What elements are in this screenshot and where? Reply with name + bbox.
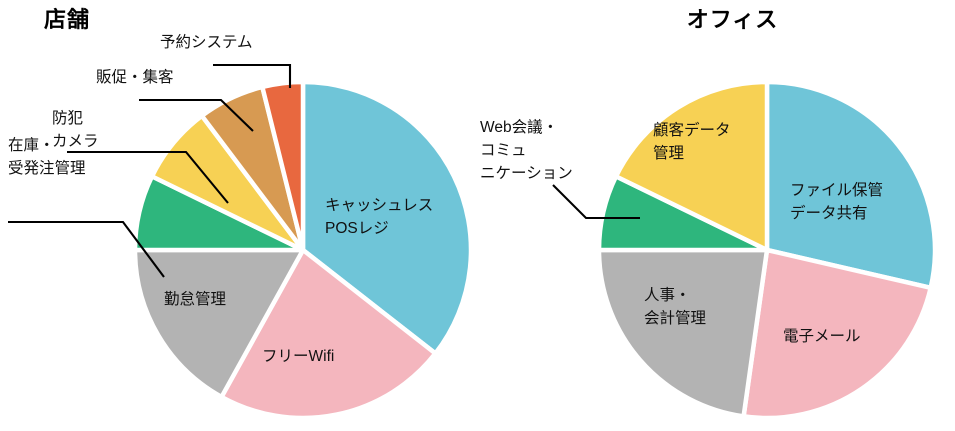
slice-label-inside: 勤怠管理 — [164, 290, 226, 308]
slice-label-outside: 防犯カメラ — [52, 109, 99, 150]
pie-chart-figure: 店舗 キャッシュレスPOSレジフリーWifi勤怠管理在庫・受発注管理防犯カメラ販… — [0, 0, 955, 431]
slice-label-outside: 予約システム — [160, 33, 253, 51]
pie-slice[interactable] — [599, 250, 767, 416]
slice-label-outside: Web会議・コミュニケーション — [480, 118, 573, 182]
slice-label-inside: フリーWifi — [262, 348, 334, 365]
chart-panel-office: オフィス ファイル保管データ共有電子メール人事・会計管理Web会議・コミュニケー… — [478, 0, 955, 431]
slice-label-inside: 電子メール — [783, 327, 861, 345]
pie-store: キャッシュレスPOSレジフリーWifi勤怠管理在庫・受発注管理防犯カメラ販促・集… — [0, 0, 478, 431]
pie-slice-wedge[interactable] — [599, 250, 767, 416]
chart-panel-store: 店舗 キャッシュレスPOSレジフリーWifi勤怠管理在庫・受発注管理防犯カメラ販… — [0, 0, 478, 431]
slice-label-outside: 販促・集客 — [96, 68, 174, 86]
pie-office: ファイル保管データ共有電子メール人事・会計管理Web会議・コミュニケーション顧客… — [478, 0, 955, 431]
